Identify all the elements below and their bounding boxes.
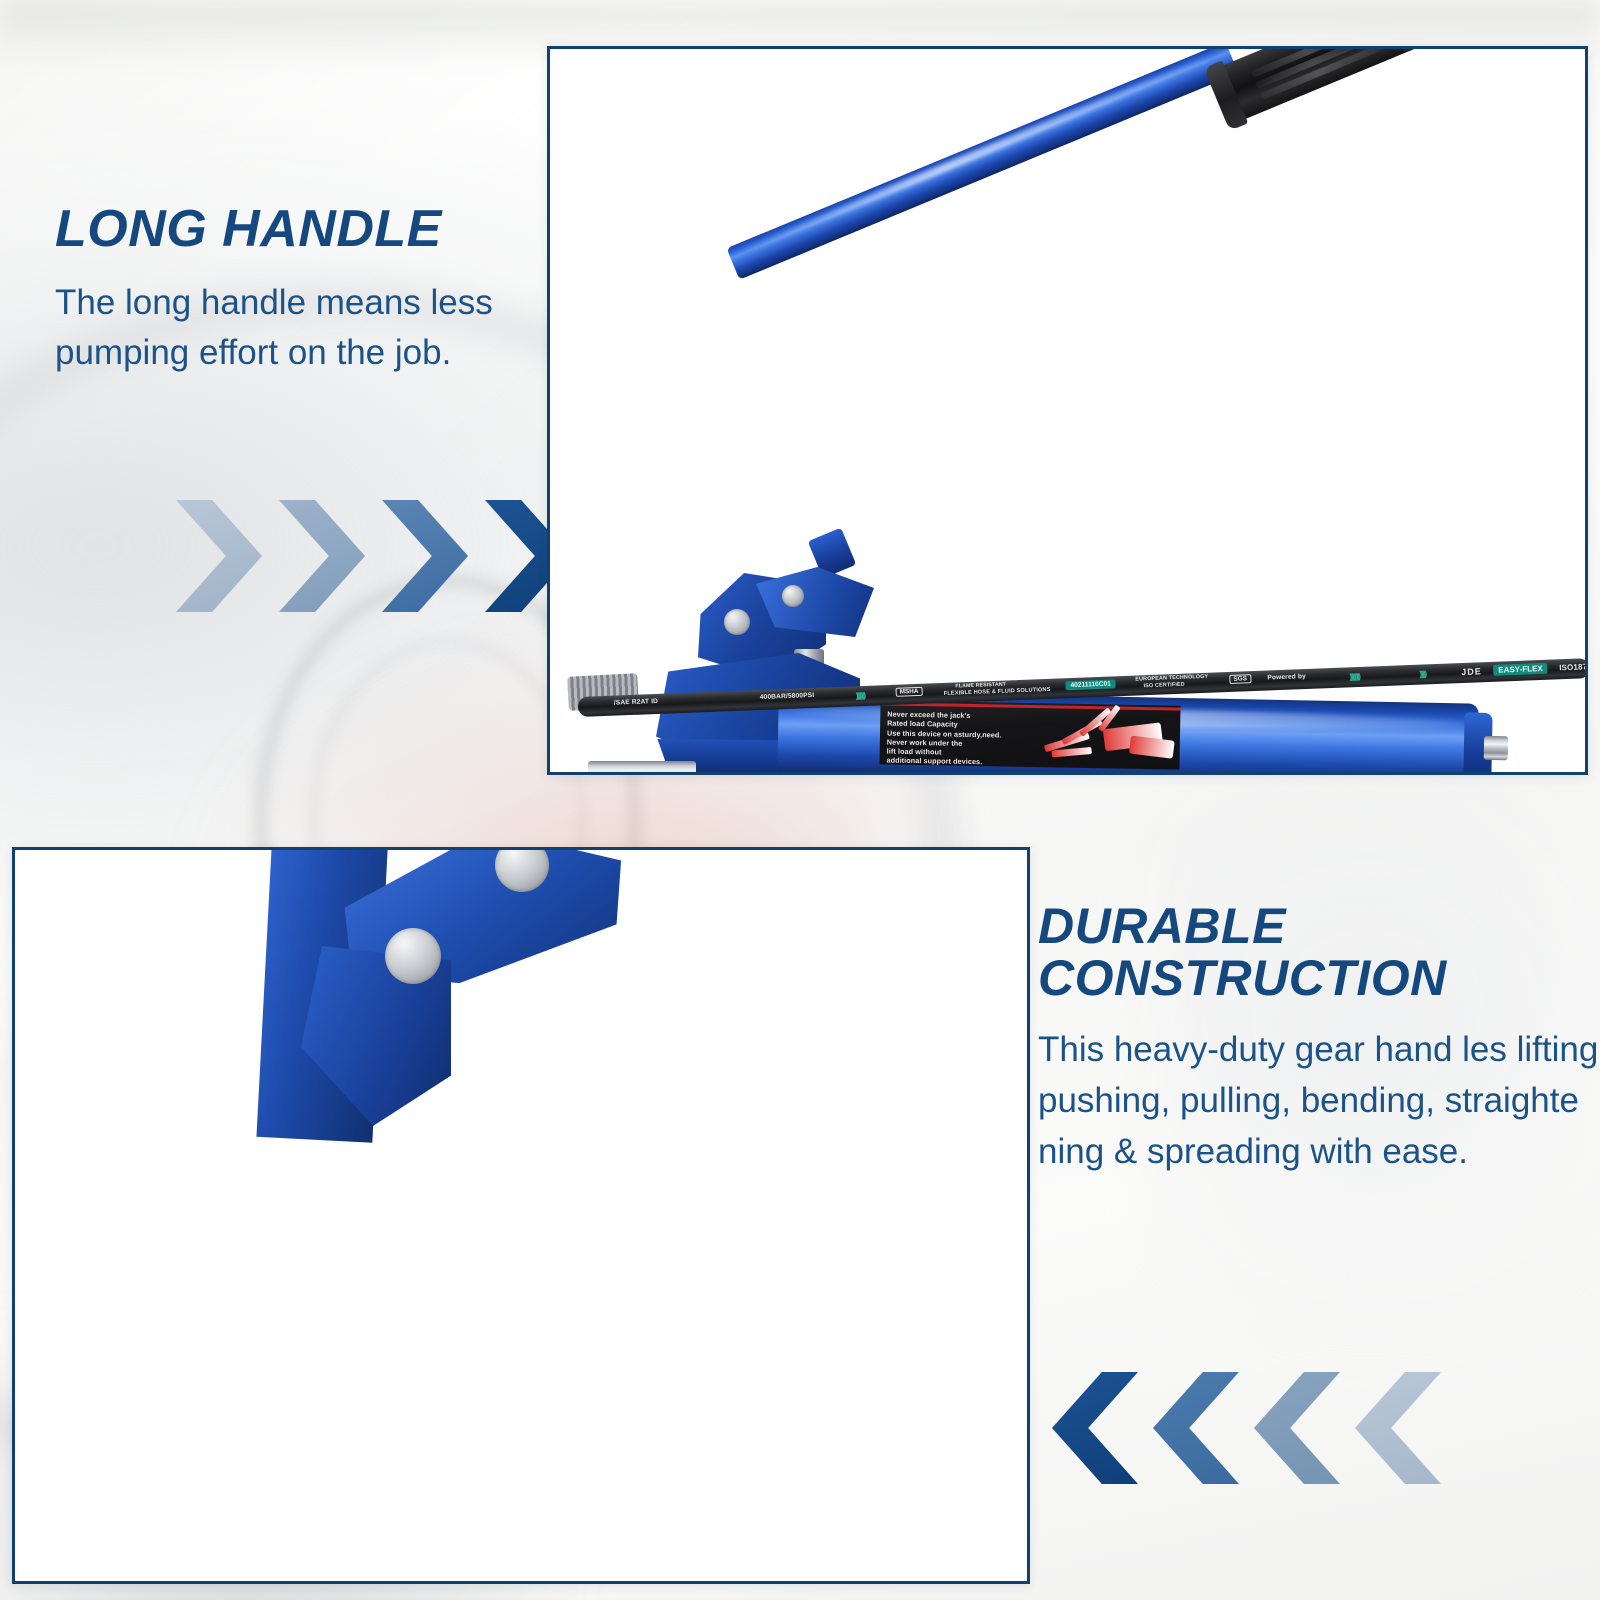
pump-handle-bar: [726, 49, 1238, 280]
feature-block-durable-construction: DURABLE CONSTRUCTION This heavy-duty gea…: [1038, 900, 1600, 1177]
linkage-pivot-pin-1: [724, 609, 750, 635]
hose-marking-sgs: SGS: [1229, 674, 1251, 684]
feature-body-durable-construction: This heavy-duty gear hand les lifting, p…: [1038, 1024, 1600, 1177]
feature-body-long-handle: The long handle means less pumping effor…: [55, 278, 555, 378]
cylinder-end-nipple: [1484, 736, 1508, 760]
hose-marking-msha: MSHA: [895, 687, 922, 697]
hose-marking-brand: JDE: [1461, 666, 1482, 677]
hose-marking-spec: /SAE R2AT ID: [614, 698, 658, 707]
chevron-left-icon-3: [1254, 1372, 1340, 1484]
chevron-arrows-right: [176, 500, 571, 612]
chevron-left-icon-4: [1355, 1372, 1441, 1484]
chevron-left-icon-2: [1153, 1372, 1239, 1484]
hose-marking-powered-by: Powered by: [1267, 673, 1306, 681]
linkage-pivot-pin-2: [782, 585, 804, 607]
handle-gloss: [749, 55, 1211, 252]
hose-wave-mark-1: ))))))): [856, 691, 865, 700]
closeup-warning-label-panel: [480, 1567, 1027, 1581]
hose-marking-iso-number: ISO1875: [1559, 662, 1585, 672]
warning-label-small: Never exceed the jack's Rated load Capac…: [879, 700, 1180, 769]
hose-marking-series: EASY-FLEX: [1493, 662, 1548, 675]
product-photo-panel-top: Never exceed the jack's Rated load Capac…: [547, 46, 1588, 775]
hose-marking-pressure: 400BAR/5800PSI: [760, 692, 815, 701]
feature-block-long-handle: LONG HANDLE The long handle means less p…: [55, 202, 555, 378]
closeup-pivot-pin-mid: [385, 928, 441, 984]
feature-title-durable-line-2: CONSTRUCTION: [1038, 952, 1600, 1004]
chevron-right-icon-2: [279, 500, 365, 612]
closeup-reservoir-cylinder: [483, 1575, 1027, 1581]
infographic-canvas: LONG HANDLE The long handle means less p…: [0, 0, 1600, 1600]
hose-marking-batch: 40211110C01: [1065, 679, 1116, 690]
chevron-arrows-left: [1052, 1372, 1441, 1484]
handle-rubber-grip: [1214, 49, 1426, 123]
hose-wave-mark-2: )))))))): [1349, 672, 1359, 681]
grip-flare: [1204, 60, 1249, 130]
feature-title-long-handle: LONG HANDLE: [55, 202, 555, 256]
chevron-right-icon-3: [382, 500, 468, 612]
feature-title-durable-line-1: DURABLE: [1038, 900, 1600, 952]
pump-output-ram: [588, 761, 696, 772]
chevron-left-icon-1: [1052, 1372, 1138, 1484]
hose-marking-iso-certified: ISO CERTIFIED: [1144, 682, 1185, 690]
brand-burst-graphic: [1042, 712, 1175, 762]
product-photo-pump-closeup: Never exceed the jack's Rated load Capac…: [15, 850, 1027, 1581]
product-photo-panel-bottom: Never exceed the jack's Rated load Capac…: [12, 847, 1030, 1584]
product-photo-full-pump: Never exceed the jack's Rated load Capac…: [550, 49, 1585, 772]
chevron-right-icon-1: [176, 500, 262, 612]
hose-wave-mark-3: ))))): [1419, 669, 1426, 678]
warning-label-text-small: Never exceed the jack's Rated load Capac…: [886, 710, 1001, 768]
grip-end-cap: [1382, 49, 1427, 53]
